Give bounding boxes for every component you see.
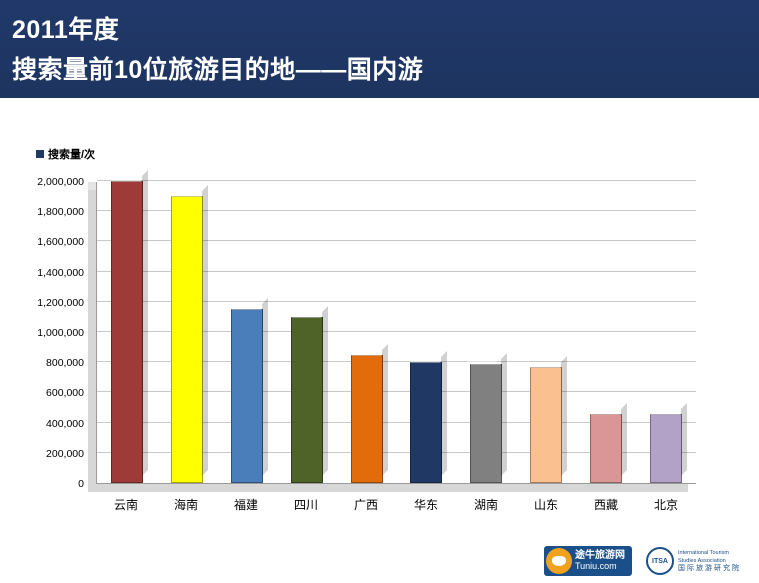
x-axis-labels: 云南海南福建四川广西华东湖南山东西藏北京 — [96, 496, 696, 520]
itsa-logo-cn: 国际旅游研究院 — [678, 565, 746, 573]
legend-label: 搜索量/次 — [48, 146, 95, 162]
y-axis-tick-label: 600,000 — [46, 387, 84, 399]
tuniu-logo-text: 途牛旅游网 Tuniu.com — [575, 550, 625, 572]
y-axis-tick-label: 1,400,000 — [37, 267, 84, 279]
chart-container: 搜索量/次 0200,000400,000600,000800,0001,000… — [0, 98, 759, 543]
bar-山东[interactable] — [530, 367, 562, 483]
x-axis-tick-label: 湖南 — [456, 496, 516, 520]
tuniu-logo-cn: 途牛旅游网 — [575, 550, 625, 561]
bar-海南[interactable] — [171, 196, 203, 483]
slide: 2011年度 搜索量前10位旅游目的地——国内游 搜索量/次 0200,0004… — [0, 0, 759, 583]
itsa-logo-en: International Tourism Studies Associatio… — [678, 549, 746, 565]
y-axis-tick-label: 1,000,000 — [37, 327, 84, 339]
bar-slot — [516, 182, 576, 483]
y-axis-labels: 0200,000400,000600,000800,0001,000,0001,… — [0, 176, 90, 488]
itsa-seal-icon: ITSA — [646, 547, 674, 575]
tuniu-logo: 途牛旅游网 Tuniu.com — [544, 546, 632, 576]
x-axis-tick-label: 福建 — [216, 496, 276, 520]
bar-华东[interactable] — [410, 362, 442, 483]
x-axis-tick-label: 四川 — [276, 496, 336, 520]
x-axis-tick-label: 海南 — [156, 496, 216, 520]
slide-footer: 途牛旅游网 Tuniu.com ITSA International Touri… — [0, 543, 759, 583]
y-axis-tick-label: 400,000 — [46, 418, 84, 430]
bar-slot — [217, 182, 277, 483]
slide-header: 2011年度 搜索量前10位旅游目的地——国内游 — [0, 0, 759, 98]
bar-slot — [636, 182, 696, 483]
x-axis-tick-label: 山东 — [516, 496, 576, 520]
bar-slot — [576, 182, 636, 483]
legend-swatch — [36, 150, 44, 158]
bar-slot — [337, 182, 397, 483]
tuniu-logo-en: Tuniu.com — [575, 561, 617, 571]
y-axis-tick-label: 2,000,000 — [37, 176, 84, 188]
y-axis-tick-label: 0 — [78, 478, 84, 490]
bar-广西[interactable] — [351, 355, 383, 483]
cow-icon — [546, 548, 572, 574]
bar-slot — [456, 182, 516, 483]
itsa-logo-text: International Tourism Studies Associatio… — [678, 549, 746, 573]
bar-四川[interactable] — [291, 317, 323, 483]
bar-slot — [157, 182, 217, 483]
bar-北京[interactable] — [650, 414, 682, 483]
itsa-logo: ITSA International Tourism Studies Assoc… — [646, 546, 746, 576]
y-axis-tick-label: 1,600,000 — [37, 236, 84, 248]
bar-西藏[interactable] — [590, 414, 622, 483]
y-axis-tick-label: 200,000 — [46, 448, 84, 460]
bar-slot — [396, 182, 456, 483]
plot-3d-floor — [88, 484, 688, 492]
y-axis-tick-label: 800,000 — [46, 357, 84, 369]
bar-series — [97, 182, 696, 483]
bar-slot — [97, 182, 157, 483]
header-title-line1: 2011年度 — [12, 10, 119, 46]
x-axis-tick-label: 广西 — [336, 496, 396, 520]
plot-area — [96, 182, 696, 484]
header-title-line2: 搜索量前10位旅游目的地——国内游 — [12, 50, 423, 86]
x-axis-tick-label: 云南 — [96, 496, 156, 520]
x-axis-tick-label: 西藏 — [576, 496, 636, 520]
bar-福建[interactable] — [231, 309, 263, 483]
grid-line — [97, 180, 696, 181]
x-axis-tick-label: 华东 — [396, 496, 456, 520]
bar-湖南[interactable] — [470, 364, 502, 483]
bar-云南[interactable] — [111, 181, 143, 483]
y-axis-tick-label: 1,200,000 — [37, 297, 84, 309]
x-axis-tick-label: 北京 — [636, 496, 696, 520]
chart-legend: 搜索量/次 — [36, 146, 95, 162]
y-axis-tick-label: 1,800,000 — [37, 206, 84, 218]
bar-slot — [277, 182, 337, 483]
